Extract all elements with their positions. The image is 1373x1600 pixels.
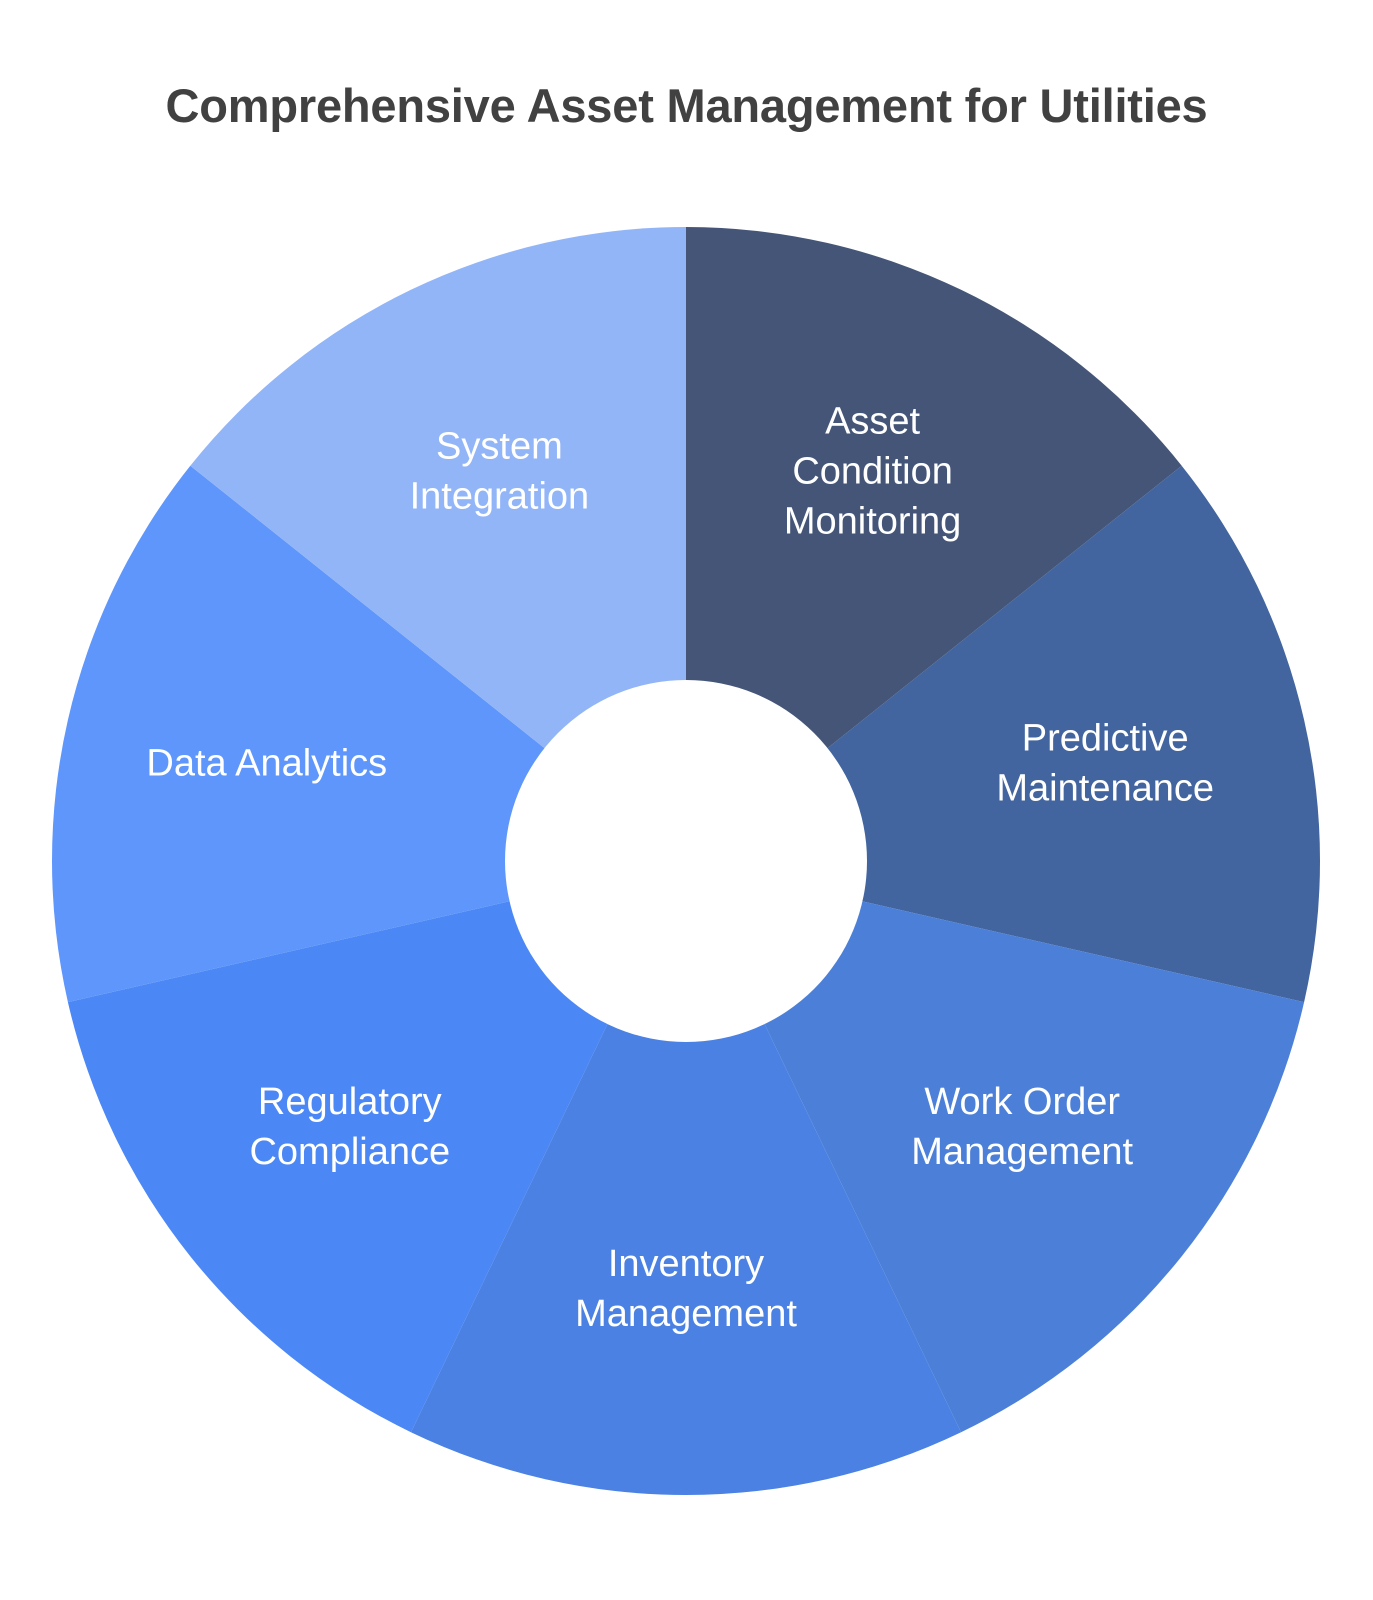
slice-label-line: Asset xyxy=(825,401,920,443)
slice-label-line: Data Analytics xyxy=(146,742,387,784)
slice-label-line: Monitoring xyxy=(784,501,961,543)
slice-label-line: Compliance xyxy=(249,1131,450,1173)
slice-label-line: Inventory xyxy=(608,1243,764,1285)
donut-hole xyxy=(505,680,867,1042)
slice-label-line: Management xyxy=(911,1131,1133,1173)
slice-label-line: Maintenance xyxy=(996,767,1214,809)
slice-label-line: Condition xyxy=(792,451,953,493)
slice-label-line: Integration xyxy=(410,476,590,518)
slice-label-line: Work Order xyxy=(924,1081,1120,1123)
donut-svg: AssetConditionMonitoringPredictiveMainte… xyxy=(0,0,1373,1600)
slice-label-line: Management xyxy=(575,1293,797,1335)
donut-chart: AssetConditionMonitoringPredictiveMainte… xyxy=(0,0,1373,1600)
slice-label: Data Analytics xyxy=(146,742,387,784)
slice-label-line: System xyxy=(436,426,563,468)
slice-label-line: Predictive xyxy=(1022,717,1189,759)
chart-page: Comprehensive Asset Management for Utili… xyxy=(0,0,1373,1600)
slice-label-line: Regulatory xyxy=(258,1081,442,1123)
